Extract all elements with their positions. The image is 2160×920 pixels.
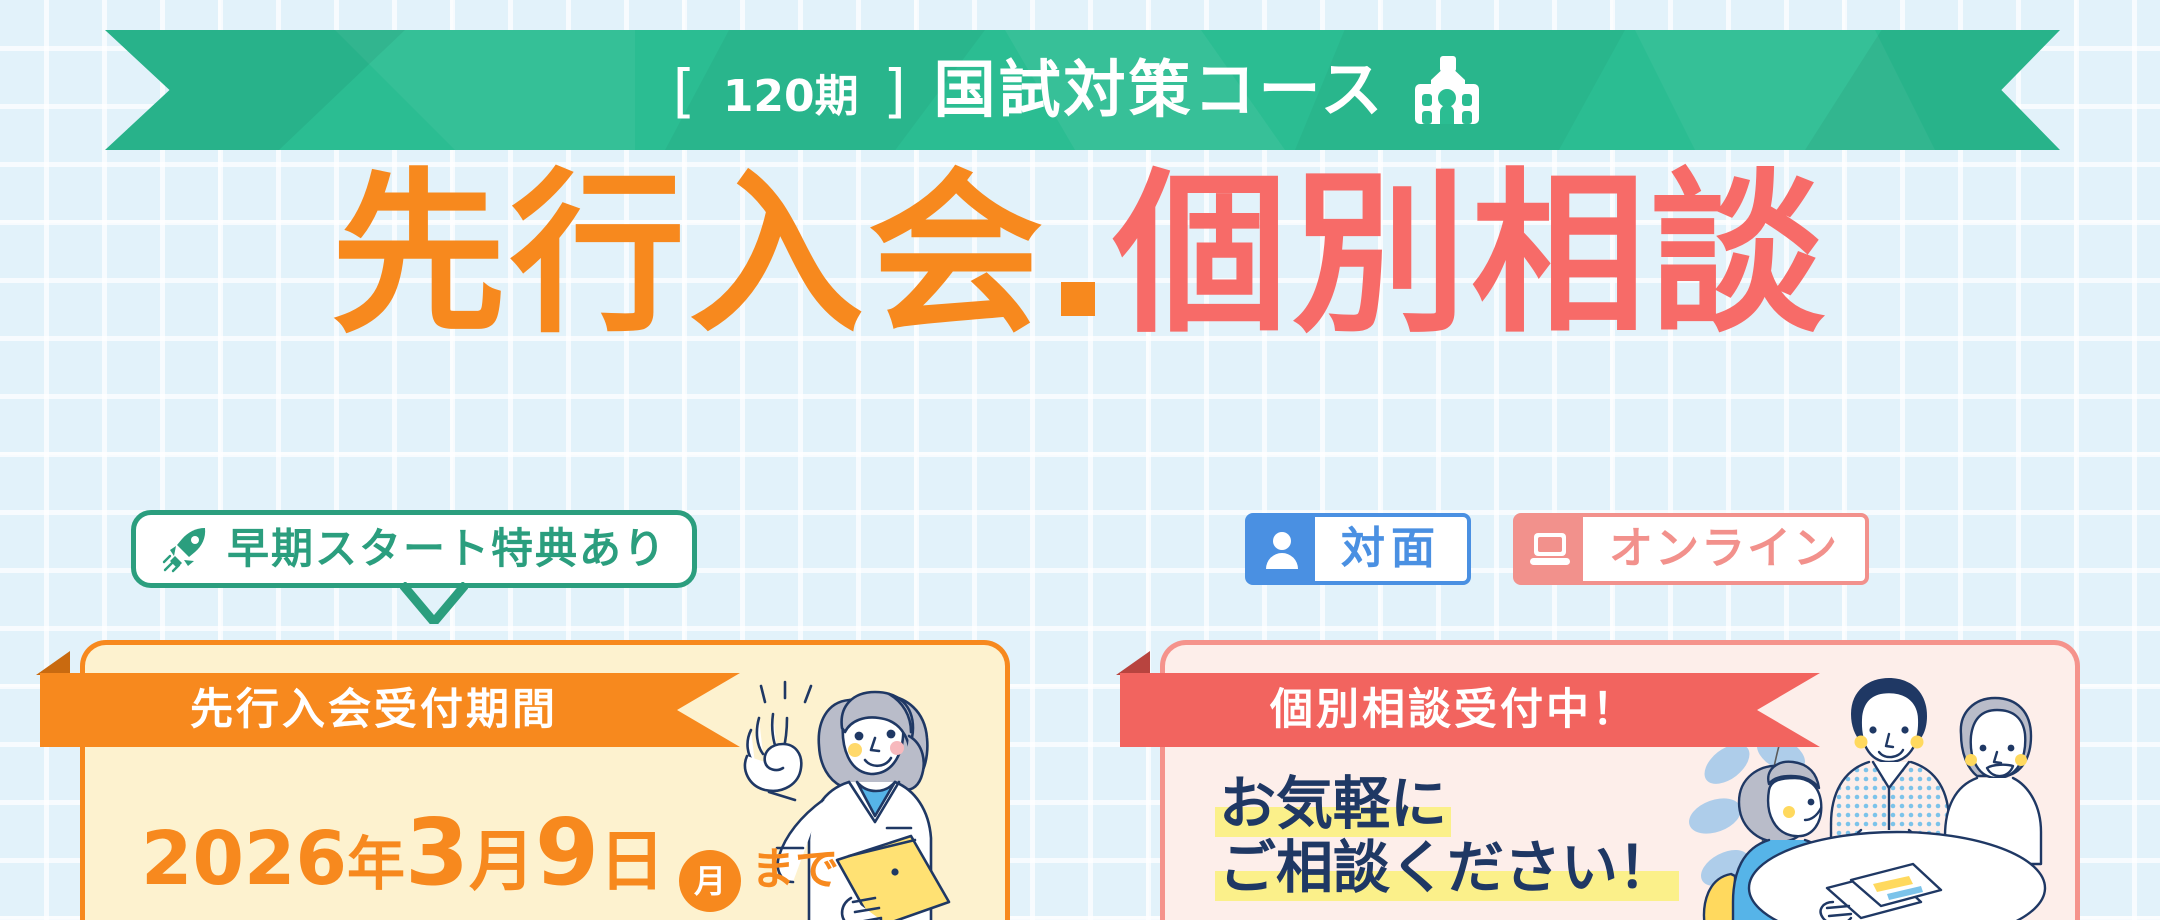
mode-badge-online-label: オンライン	[1583, 517, 1865, 581]
consultation-ribbon: 個別相談受付中！	[1120, 673, 1820, 747]
rocket-icon	[161, 524, 211, 574]
banner-bracket-close: ]	[883, 57, 909, 125]
headline-part-2: 個別相談	[1113, 168, 1829, 343]
consultation-mode-badges: 対面 オンライン	[1245, 513, 1869, 585]
deadline-month-number: 3	[405, 807, 469, 899]
mode-badge-in-person-label: 対面	[1315, 517, 1467, 581]
early-start-perk-badge[interactable]: 早期スタート特典あり	[131, 510, 697, 588]
banner-title: [ 120期 ] 国試対策コース	[673, 59, 1386, 121]
early-enrollment-ribbon-label: 先行入会受付期間	[190, 689, 558, 732]
consultation-card: 個別相談受付中！ お気軽に ご相談ください！	[1160, 640, 2080, 920]
school-building-icon	[1407, 56, 1487, 124]
deadline-day-kanji: 日	[599, 829, 665, 895]
mode-badge-online[interactable]: オンライン	[1513, 513, 1869, 585]
consultation-copy: お気軽に ご相談ください！	[1215, 773, 1679, 901]
banner-bracket-open: [	[673, 57, 699, 125]
enrollment-deadline-date: 2026 年 3 月 9 日 月 まで	[141, 807, 839, 904]
early-enrollment-ribbon: 先行入会受付期間	[40, 673, 740, 747]
deadline-year-kanji: 年	[347, 835, 405, 893]
mode-badge-in-person[interactable]: 対面	[1245, 513, 1471, 585]
headline-separator-dot	[1061, 282, 1095, 316]
course-banner: [ 120期 ] 国試対策コース	[0, 30, 2160, 150]
consultation-copy-line-2: ご相談ください！	[1215, 837, 1679, 901]
perk-badge-label: 早期スタート特典あり	[227, 528, 667, 570]
perk-badge-pointer	[400, 582, 468, 624]
person-icon	[1249, 517, 1315, 581]
headline-part-1: 先行入会	[331, 168, 1047, 343]
deadline-suffix: まで	[751, 848, 839, 892]
laptop-icon	[1517, 517, 1583, 581]
deadline-day-number: 9	[535, 807, 599, 899]
deadline-month-kanji: 月	[469, 829, 535, 895]
deadline-year-number: 2026	[141, 822, 347, 896]
consultation-ribbon-label: 個別相談受付中！	[1270, 689, 1638, 732]
main-headline: 先行入会 個別相談	[0, 160, 2160, 350]
banner-term: 120期	[723, 71, 859, 122]
early-enrollment-card: 先行入会受付期間 2026 年 3 月 9 日 月 まで	[80, 640, 1010, 920]
deadline-weekday-badge: 月	[679, 850, 741, 912]
banner-course-name: 国試対策コース	[934, 53, 1386, 126]
consultation-copy-line-1: お気軽に	[1215, 773, 1451, 837]
